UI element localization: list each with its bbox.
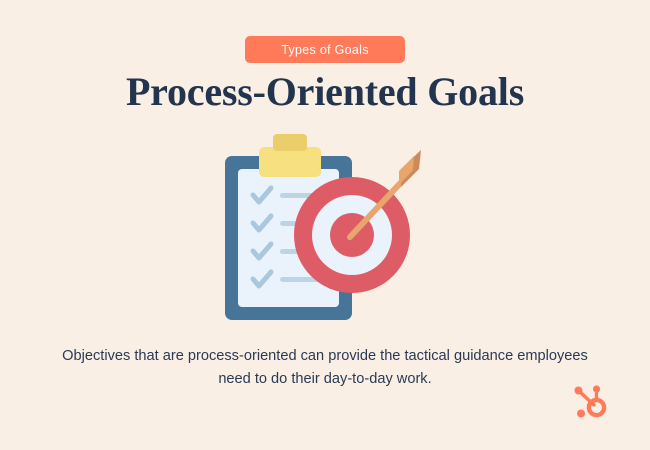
hubspot-sprocket-logo bbox=[568, 380, 612, 424]
category-badge: Types of Goals bbox=[245, 36, 405, 63]
caption-text: Objectives that are process-oriented can… bbox=[60, 345, 590, 391]
clipboard-with-target-illustration bbox=[215, 125, 435, 325]
sprocket-upper-left-dot bbox=[575, 387, 583, 395]
sprocket-top-dot bbox=[593, 385, 600, 392]
slide-canvas: Types of Goals Process-Oriented Goals bbox=[0, 0, 650, 450]
clipboard-clip bbox=[259, 147, 321, 177]
sprocket-lower-left-dot bbox=[577, 410, 585, 418]
page-title: Process-Oriented Goals bbox=[0, 70, 650, 114]
category-badge-label: Types of Goals bbox=[281, 43, 369, 57]
clipboard-clip-tab bbox=[273, 134, 307, 151]
sprocket-ring bbox=[589, 400, 604, 415]
